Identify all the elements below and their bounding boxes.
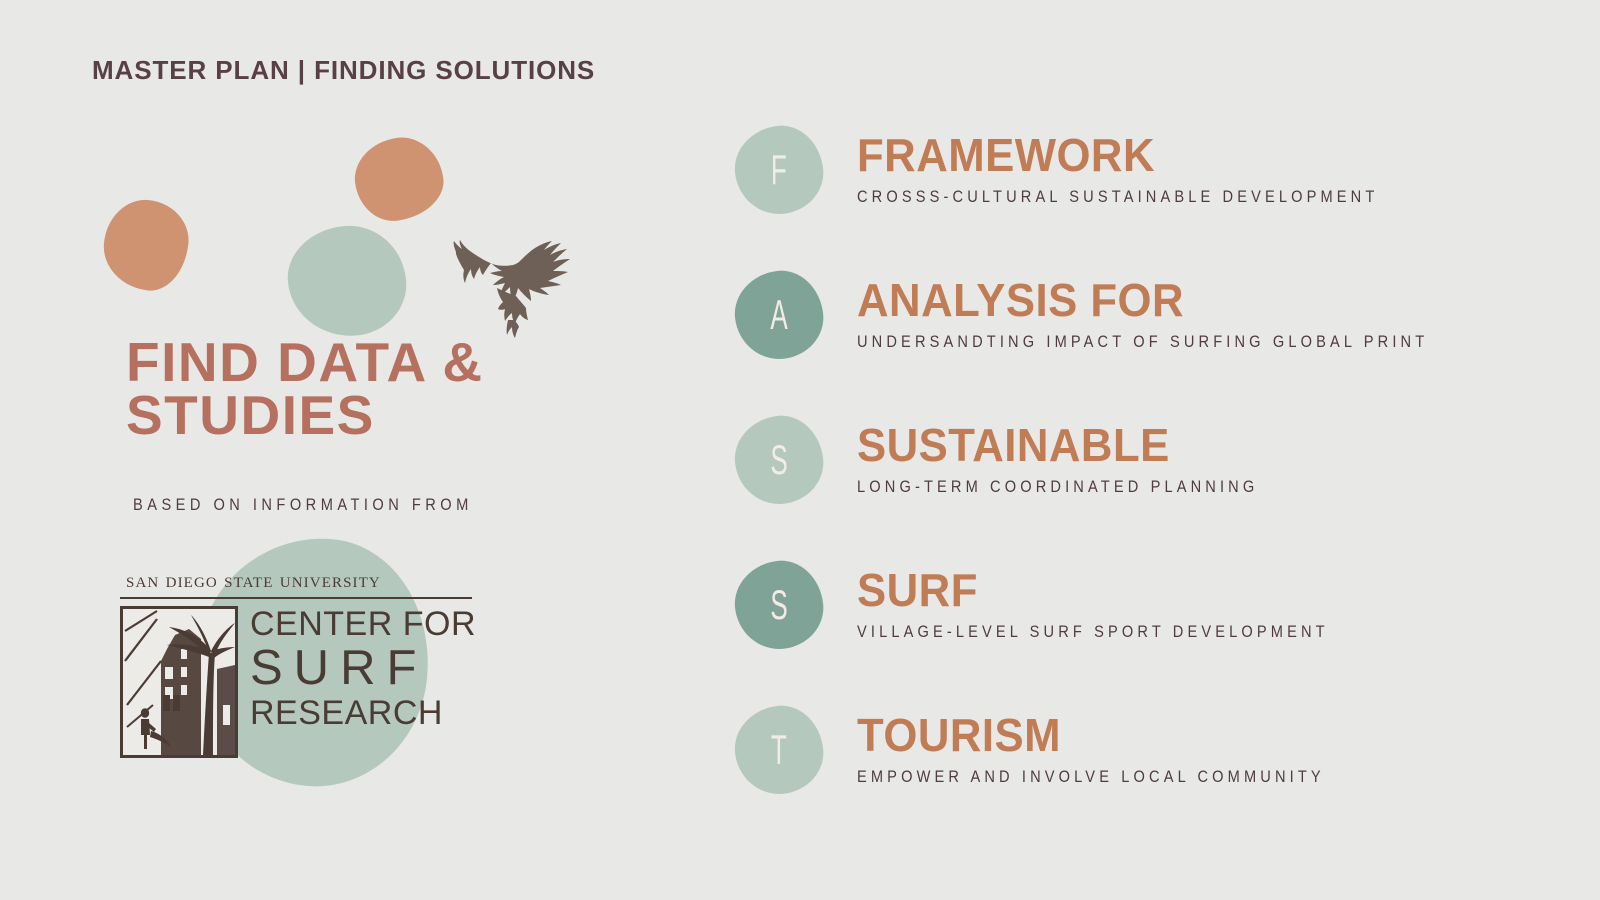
decorative-blob-terracotta-large	[100, 196, 193, 294]
surfer-palm-building-illustration	[120, 606, 238, 758]
list-item-title: ANALYSIS FOR	[857, 275, 1488, 325]
list-item-subtitle: VILLAGE-LEVEL SURF SPORT DEVELOPMENT	[857, 622, 1329, 642]
list-item-subtitle: EMPOWER AND INVOLVE LOCAL COMMUNITY	[857, 767, 1325, 787]
badge-letter: A	[770, 294, 787, 336]
badge-sustainable: S	[735, 416, 823, 504]
list-item-subtitle: LONG-TERM COORDINATED PLANNING	[857, 477, 1258, 497]
page-title: MASTER PLAN | FINDING SOLUTIONS	[92, 55, 595, 86]
badge-letter: S	[770, 439, 787, 481]
list-item-title: TOURISM	[857, 710, 1374, 760]
badge-letter: F	[771, 149, 787, 191]
badge-framework: F	[735, 126, 823, 214]
badge-analysis-for: A	[735, 271, 823, 359]
logo-line-center-for: CENTER FOR	[250, 606, 476, 642]
list-item-framework: F FRAMEWORK CROSSS-CULTURAL SUSTAINABLE …	[735, 126, 1535, 271]
list-item-title: SUSTAINABLE	[857, 420, 1300, 470]
list-item-tourism: T TOURISM EMPOWER AND INVOLVE LOCAL COMM…	[735, 706, 1535, 851]
eagle-silhouette-icon	[450, 240, 585, 345]
list-item-subtitle: UNDERSANDTING IMPACT OF SURFING GLOBAL P…	[857, 332, 1428, 352]
logo-line-surf: SURF	[250, 642, 476, 694]
list-item-sustainable: S SUSTAINABLE LONG-TERM COORDINATED PLAN…	[735, 416, 1535, 561]
badge-surf: S	[735, 561, 823, 649]
badge-letter: S	[770, 584, 787, 626]
sdsu-center-for-surf-research-logo: San Diego State University	[120, 568, 480, 758]
decorative-blob-terracotta-small	[350, 132, 449, 225]
fasst-list: F FRAMEWORK CROSSS-CULTURAL SUSTAINABLE …	[735, 126, 1535, 851]
logo-university-name: San Diego State University	[120, 568, 480, 593]
list-item-title: FRAMEWORK	[857, 130, 1433, 180]
list-item-subtitle: CROSSS-CULTURAL SUSTAINABLE DEVELOPMENT	[857, 187, 1378, 207]
logo-divider-rule	[120, 597, 472, 599]
list-item-analysis-for: A ANALYSIS FOR UNDERSANDTING IMPACT OF S…	[735, 271, 1535, 416]
decorative-blob-sage	[284, 222, 409, 340]
based-on-label: BASED ON INFORMATION FROM	[133, 495, 473, 515]
logo-line-research: RESEARCH	[250, 694, 476, 732]
badge-tourism: T	[735, 706, 823, 794]
headline: FIND DATA & STUDIES	[126, 336, 596, 442]
slide-canvas: MASTER PLAN | FINDING SOLUTIONS FIND DAT…	[0, 0, 1600, 900]
list-item-title: SURF	[857, 565, 1378, 615]
badge-letter: T	[771, 729, 787, 771]
list-item-surf: S SURF VILLAGE-LEVEL SURF SPORT DEVELOPM…	[735, 561, 1535, 706]
